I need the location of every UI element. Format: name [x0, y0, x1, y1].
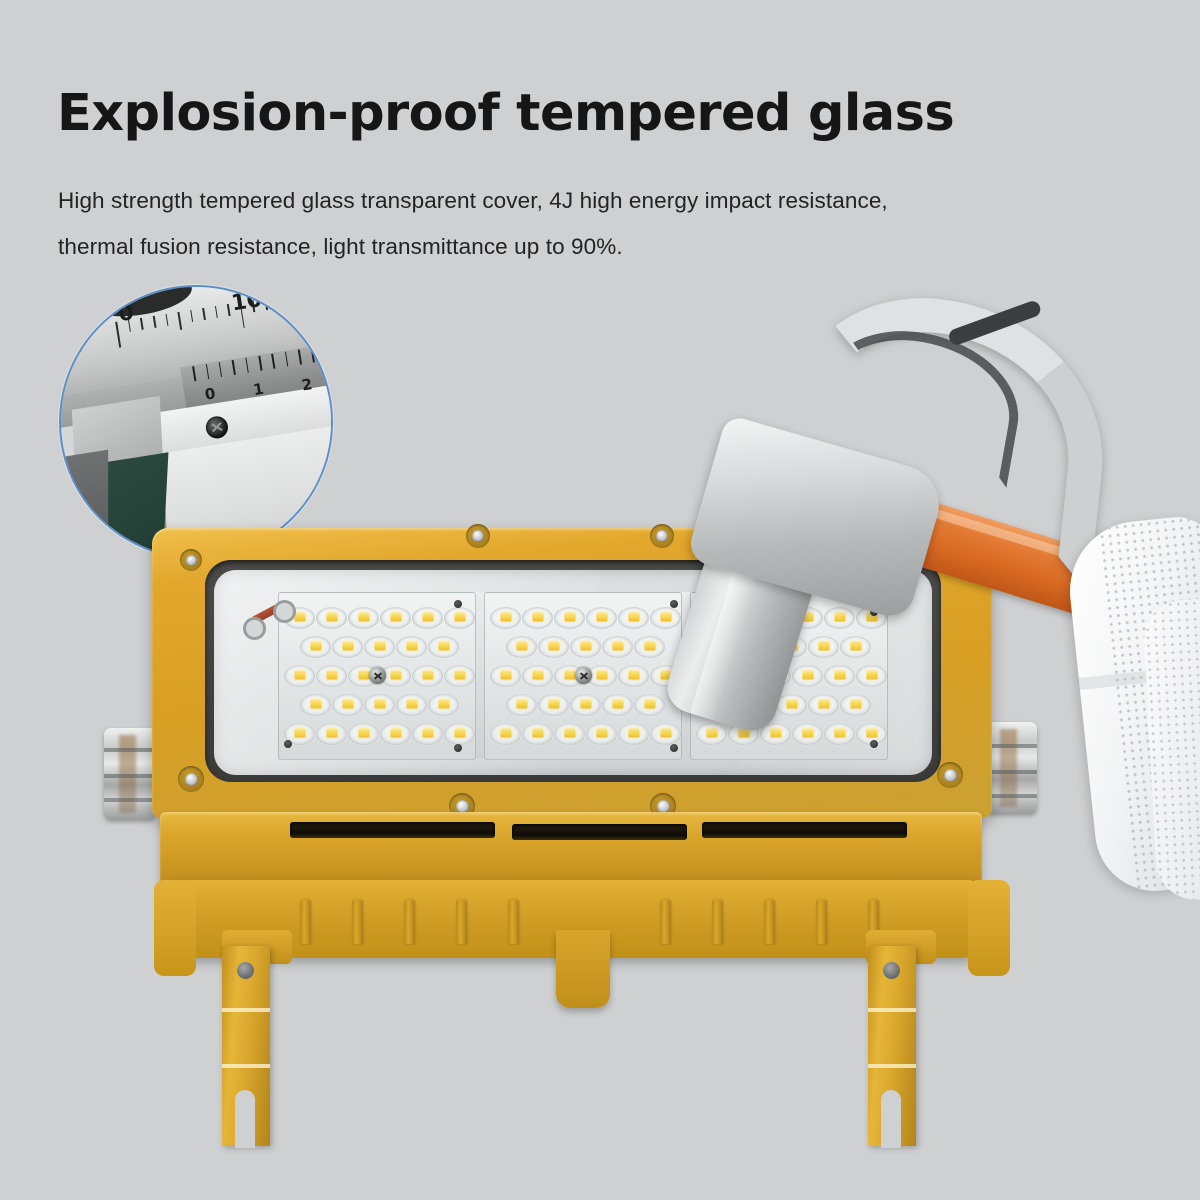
led-chip: [596, 613, 607, 622]
led-emitter: [586, 723, 617, 745]
led-chip: [500, 671, 511, 680]
led-emitter: [522, 607, 553, 629]
heatsink-fin: [404, 900, 414, 944]
led-chip: [374, 700, 385, 709]
led-chip: [326, 671, 337, 680]
led-chip: [548, 700, 559, 709]
bracket-highlight: [868, 1008, 916, 1012]
led-emitter: [490, 723, 521, 745]
led-chip: [596, 671, 607, 680]
led-module: [278, 592, 476, 760]
clamp-eye: [273, 600, 296, 623]
bracket-highlight: [222, 1064, 270, 1068]
led-chip: [580, 642, 591, 651]
led-emitter: [570, 694, 601, 716]
led-chip: [310, 700, 321, 709]
heatsink-fin: [764, 900, 774, 944]
led-chip: [358, 613, 369, 622]
cable-gland-left: [104, 728, 156, 820]
led-chip: [580, 700, 591, 709]
led-chip: [358, 729, 369, 738]
bezel-bolt-left-upper: [180, 549, 202, 571]
plate-hole: [454, 600, 462, 608]
led-emitter: [554, 723, 585, 745]
led-emitter: [490, 665, 521, 687]
led-chip: [422, 613, 433, 622]
led-chip: [438, 700, 449, 709]
led-chip: [564, 729, 575, 738]
bracket-bolt-hole: [237, 962, 254, 979]
feature-banner-stage: Explosion-proof tempered glass High stre…: [0, 0, 1200, 1200]
led-chip: [612, 700, 623, 709]
led-chip: [310, 642, 321, 651]
led-emitter: [348, 723, 379, 745]
led-emitter: [412, 607, 443, 629]
hammer-claw: [780, 285, 1051, 520]
plate-hole: [454, 744, 462, 752]
led-chip: [422, 671, 433, 680]
led-chip: [294, 729, 305, 738]
led-emitter: [490, 607, 521, 629]
led-chip: [612, 642, 623, 651]
led-chip: [548, 642, 559, 651]
led-chip: [454, 729, 465, 738]
led-emitter: [538, 636, 569, 658]
bracket-bolt-hole: [883, 962, 900, 979]
led-chip: [342, 642, 353, 651]
vent-slot-left: [290, 822, 495, 838]
housing-endcap-right: [968, 880, 1010, 976]
led-chip: [406, 700, 417, 709]
clamp-eye: [243, 617, 266, 640]
bracket-highlight: [222, 1008, 270, 1012]
led-emitter: [586, 607, 617, 629]
led-emitter: [396, 636, 427, 658]
led-chip: [500, 729, 511, 738]
housing-center-boss: [556, 930, 610, 1008]
led-chip: [326, 729, 337, 738]
led-chip: [422, 729, 433, 738]
led-chip: [438, 642, 449, 651]
bezel-bolt-left-lower: [178, 766, 204, 792]
led-emitter: [444, 723, 475, 745]
led-chip: [596, 729, 607, 738]
led-emitter: [570, 636, 601, 658]
led-chip: [516, 642, 527, 651]
heatsink-fin: [816, 900, 826, 944]
led-emitter: [300, 694, 331, 716]
led-emitter: [522, 723, 553, 745]
gland-ridge: [104, 798, 156, 802]
led-emitter: [538, 694, 569, 716]
led-emitter: [412, 723, 443, 745]
housing-endcap-left: [154, 880, 196, 976]
led-chip: [532, 729, 543, 738]
led-emitter: [332, 694, 363, 716]
led-chip: [294, 671, 305, 680]
bezel-bolt-top-left: [466, 524, 490, 548]
led-chip: [516, 700, 527, 709]
led-chip: [500, 613, 511, 622]
mounting-bracket-leg-left: [222, 946, 270, 1146]
heatsink-fin: [352, 900, 362, 944]
led-emitter: [554, 607, 585, 629]
led-emitter: [506, 694, 537, 716]
bracket-u-slot: [235, 1090, 255, 1148]
gland-ridge: [104, 774, 156, 778]
led-emitter: [300, 636, 331, 658]
heatsink-fin: [456, 900, 466, 944]
led-emitter: [380, 723, 411, 745]
led-chip: [342, 700, 353, 709]
led-emitter: [602, 636, 633, 658]
led-emitter: [444, 665, 475, 687]
led-emitter: [444, 607, 475, 629]
led-chip: [628, 729, 639, 738]
led-emitter: [316, 607, 347, 629]
led-chip: [358, 671, 369, 680]
led-emitter: [428, 694, 459, 716]
module-mounting-screw: [369, 667, 386, 684]
led-chip: [454, 613, 465, 622]
led-chip: [532, 671, 543, 680]
heatsink-fin: [508, 900, 518, 944]
heatsink-fin: [660, 900, 670, 944]
module-mounting-screw: [575, 667, 592, 684]
led-emitter: [522, 665, 553, 687]
led-chip: [374, 642, 385, 651]
led-emitter: [380, 607, 411, 629]
plate-hole: [284, 740, 292, 748]
bracket-highlight: [868, 1064, 916, 1068]
led-chip: [628, 671, 639, 680]
led-chip: [406, 642, 417, 651]
led-chip: [564, 671, 575, 680]
bracket-u-slot: [881, 1090, 901, 1148]
led-emitter: [348, 607, 379, 629]
led-emitter: [284, 665, 315, 687]
led-chip: [454, 671, 465, 680]
led-emitter: [602, 694, 633, 716]
internal-wire-clamp: [243, 600, 295, 634]
led-emitter: [364, 694, 395, 716]
heatsink-fin: [300, 900, 310, 944]
led-chip: [326, 613, 337, 622]
led-emitter: [316, 665, 347, 687]
gland-ridge: [104, 748, 156, 752]
led-emitter: [364, 636, 395, 658]
heatsink-fin: [712, 900, 722, 944]
led-emitter: [428, 636, 459, 658]
led-chip: [390, 613, 401, 622]
led-emitter: [506, 636, 537, 658]
led-chip: [390, 671, 401, 680]
led-chip: [564, 613, 575, 622]
led-chip: [532, 613, 543, 622]
led-emitter: [332, 636, 363, 658]
led-chip: [390, 729, 401, 738]
led-emitter: [412, 665, 443, 687]
led-emitter: [396, 694, 427, 716]
led-emitter: [316, 723, 347, 745]
mounting-bracket-leg-right: [868, 946, 916, 1146]
led-chip: [628, 613, 639, 622]
